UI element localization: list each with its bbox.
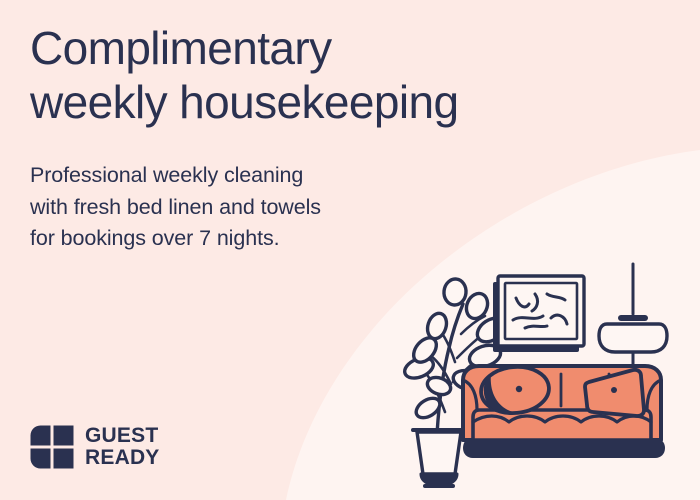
living-room-illustration <box>395 262 685 492</box>
guestready-quadrant-mark <box>30 425 74 469</box>
framed-picture <box>493 276 584 352</box>
pendant-lamp <box>599 264 667 376</box>
sofa <box>463 364 665 458</box>
page-title: Complimentary weekly housekeeping <box>30 22 650 130</box>
guestready-logo: GUEST READY <box>30 425 160 469</box>
subtitle-text: Professional weekly cleaning with fresh … <box>30 160 460 255</box>
guestready-wordmark: GUEST READY <box>85 425 160 469</box>
promo-banner: Complimentary weekly housekeeping Profes… <box>0 0 700 500</box>
